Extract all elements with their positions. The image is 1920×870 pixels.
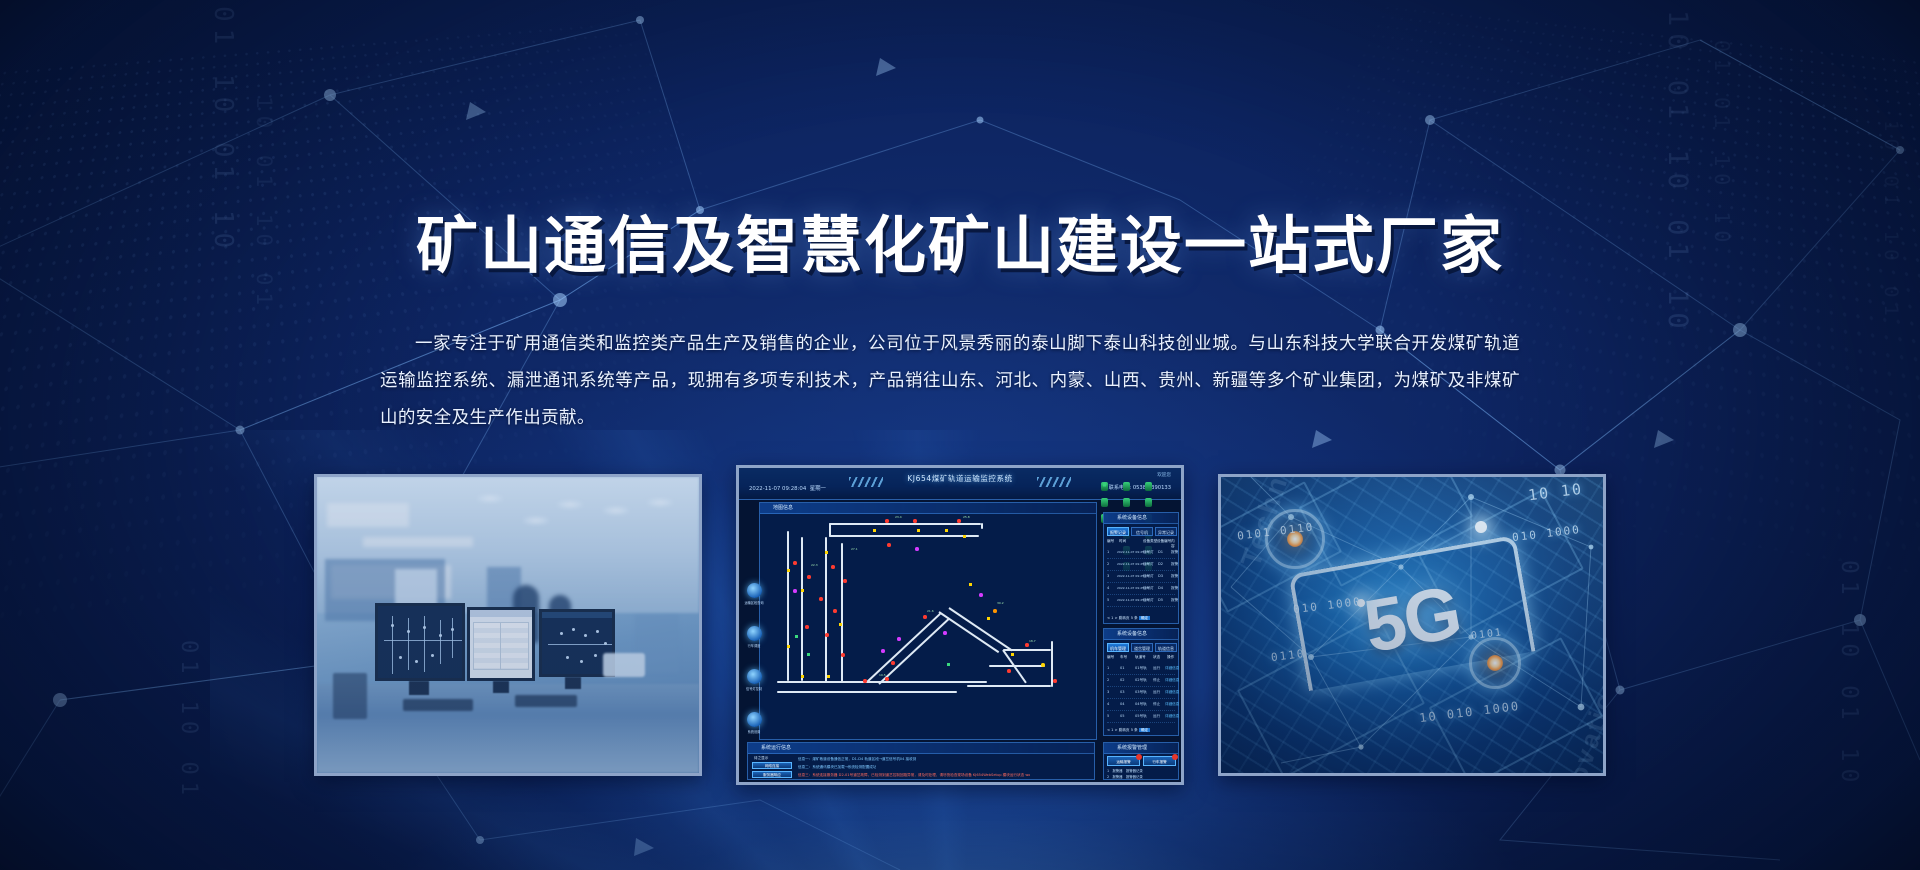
promo-banner: 01 10 01 10 10 01 10 01 01 10 01 10 01 1…	[0, 0, 1920, 870]
table-row[interactable]: 5 2022-11-07 09:25:29 信号灯 D5 报警	[1107, 595, 1175, 607]
scada-user-menu[interactable]: 欢迎您	[1157, 472, 1171, 478]
scada-p1-pager[interactable]: < 1 > 跳转页 5 条 确定	[1107, 616, 1150, 621]
scada-dashboard-photo: KJ654煤矿轨道运输监控系统 2022-11-07 09:28:04 星期一 …	[739, 468, 1181, 782]
scada-p1-tab-1[interactable]: 信号机	[1131, 527, 1153, 536]
scada-p2-tab-0[interactable]: 机车管理	[1107, 643, 1129, 652]
scada-log-button-1[interactable]: 服务器响应	[752, 771, 792, 778]
control-room-photo	[317, 477, 699, 773]
scada-device-panel-1: 系统设备信息 报警记录 信号机 异常记录 编号 时间 设备类型 设备编号 内容	[1103, 512, 1179, 624]
gallery-item-control-room[interactable]	[314, 474, 702, 776]
table-row[interactable]: 2 02 02号轨 停止 详细信息	[1107, 675, 1175, 687]
scada-p1-col-3: 设备编号	[1157, 539, 1171, 544]
scada-p1-tab-0[interactable]: 报警记录	[1107, 527, 1129, 536]
train-circle-icon	[747, 626, 762, 641]
scada-alarm-panel: 系统报警管理 运输报警 行车报警 1 报警器 报警器记录 2 报警器	[1103, 742, 1179, 780]
signal-circle-icon	[747, 669, 762, 684]
scada-log-panel: 系统运行信息 待之显示 网络连接 服务器响应 信息一：煤矿巷道设备通信正常，D1…	[747, 742, 1095, 780]
table-row[interactable]: 2 2022-11-07 09:25:29 信号灯 D2 报警	[1107, 559, 1175, 571]
scada-p1-col-0: 编号	[1107, 539, 1114, 544]
table-row[interactable]: 4 2022-11-07 09:25:29 信号灯 D4 报警	[1107, 583, 1175, 595]
image-gallery: KJ654煤矿轨道运输监控系统 2022-11-07 09:28:04 星期一 …	[314, 474, 1606, 776]
scada-p1-col-1: 时间	[1119, 539, 1126, 544]
alarm-count-badge-1	[1172, 754, 1178, 760]
gear-circle-icon	[747, 712, 762, 727]
scada-device-panel-2: 系统设备信息 机车管理 道岔管理 轨道信息 编号 车号 轨道号 状态 操作	[1103, 628, 1179, 736]
scada-datetime: 2022-11-07 09:28:04 星期一	[749, 484, 826, 492]
scada-p2-col-1: 车号	[1120, 655, 1127, 660]
alarm-count-badge-0	[1136, 754, 1142, 760]
page-title: 矿山通信及智慧化矿山建设一站式厂家	[0, 195, 1920, 285]
scada-nav-item-3[interactable]: 系统设置	[743, 712, 765, 746]
scada-left-nav: 运输区段查询 行车调度 信号灯控制 系统设置	[743, 583, 765, 755]
company-description: 一家专注于矿用通信类和监控类产品生产及销售的企业，公司位于风景秀丽的泰山脚下泰山…	[380, 325, 1520, 436]
scada-device-panel-1-title: 系统设备信息	[1104, 513, 1178, 524]
scada-p2-tab-1[interactable]: 道岔管理	[1131, 643, 1153, 652]
scada-device-panel-2-title: 系统设备信息	[1104, 629, 1178, 640]
table-row[interactable]: 1 2022-11-07 09:25:29 信号灯 D1 报警	[1107, 547, 1175, 559]
table-row[interactable]: 3 03 03号轨 运行 详细信息	[1107, 687, 1175, 699]
user-circle-icon	[747, 583, 762, 598]
scada-p2-col-2: 轨道号	[1135, 655, 1146, 660]
table-row[interactable]: 3 2022-11-07 09:25:29 信号灯 D3 报警	[1107, 571, 1175, 583]
scada-log-panel-title: 系统运行信息	[748, 743, 1094, 754]
scada-p1-tab-2[interactable]: 异常记录	[1155, 527, 1177, 536]
scada-log-line-1: 信息二：系统通讯模块已加载→系统检测配置成功	[798, 765, 876, 770]
scada-p2-col-4: 操作	[1167, 655, 1174, 660]
table-row[interactable]: 1 01 01号轨 运行 详细信息	[1107, 663, 1175, 675]
gallery-item-scada-dashboard[interactable]: KJ654煤矿轨道运输监控系统 2022-11-07 09:28:04 星期一 …	[736, 465, 1184, 785]
scada-track-map[interactable]: 22.3 27.1 23.4 25.8 21.6 30.2 18.7 19.5	[767, 513, 1085, 735]
five-g-photo: Technology Innovation 5G 0101 0110 010 1…	[1221, 477, 1603, 773]
scada-nav-item-0[interactable]: 运输区段查询	[743, 583, 765, 617]
scada-log-button-0[interactable]: 网络连接	[752, 762, 792, 769]
scada-p2-col-3: 状态	[1153, 655, 1160, 660]
scada-title: KJ654煤矿轨道运输监控系统	[907, 473, 1012, 484]
scada-p1-col-2: 设备类型	[1143, 539, 1157, 544]
scada-p2-tab-2[interactable]: 轨道信息	[1155, 643, 1177, 652]
scada-p2-pager[interactable]: < 1 > 跳转页 5 条 确定	[1107, 728, 1150, 733]
scada-p2-col-0: 编号	[1107, 655, 1114, 660]
gallery-item-five-g[interactable]: Technology Innovation 5G 0101 0110 010 1…	[1218, 474, 1606, 776]
scada-contact: 联系电话: 0538-6390133	[1109, 484, 1171, 491]
scada-nav-item-2[interactable]: 信号灯控制	[743, 669, 765, 703]
scada-alarm-panel-title: 系统报警管理	[1104, 743, 1178, 754]
scada-log-counter-label: 待之显示	[754, 756, 768, 761]
table-row[interactable]: 5 05 05号轨 运行 详细信息	[1107, 711, 1175, 723]
scada-log-line-2: 信息三：系统连接服务器 D2-01号道岔故障，已检测到道岔控制回路异常，请及时处…	[798, 773, 1030, 778]
scada-log-line-0: 信息一：煤矿巷道设备通信正常，D1-D4 轨道区段→道岔信号机04 接收到	[798, 757, 916, 762]
table-row[interactable]: 4 04 04号轨 停止 详细信息	[1107, 699, 1175, 711]
scada-nav-item-1[interactable]: 行车调度	[743, 626, 765, 660]
